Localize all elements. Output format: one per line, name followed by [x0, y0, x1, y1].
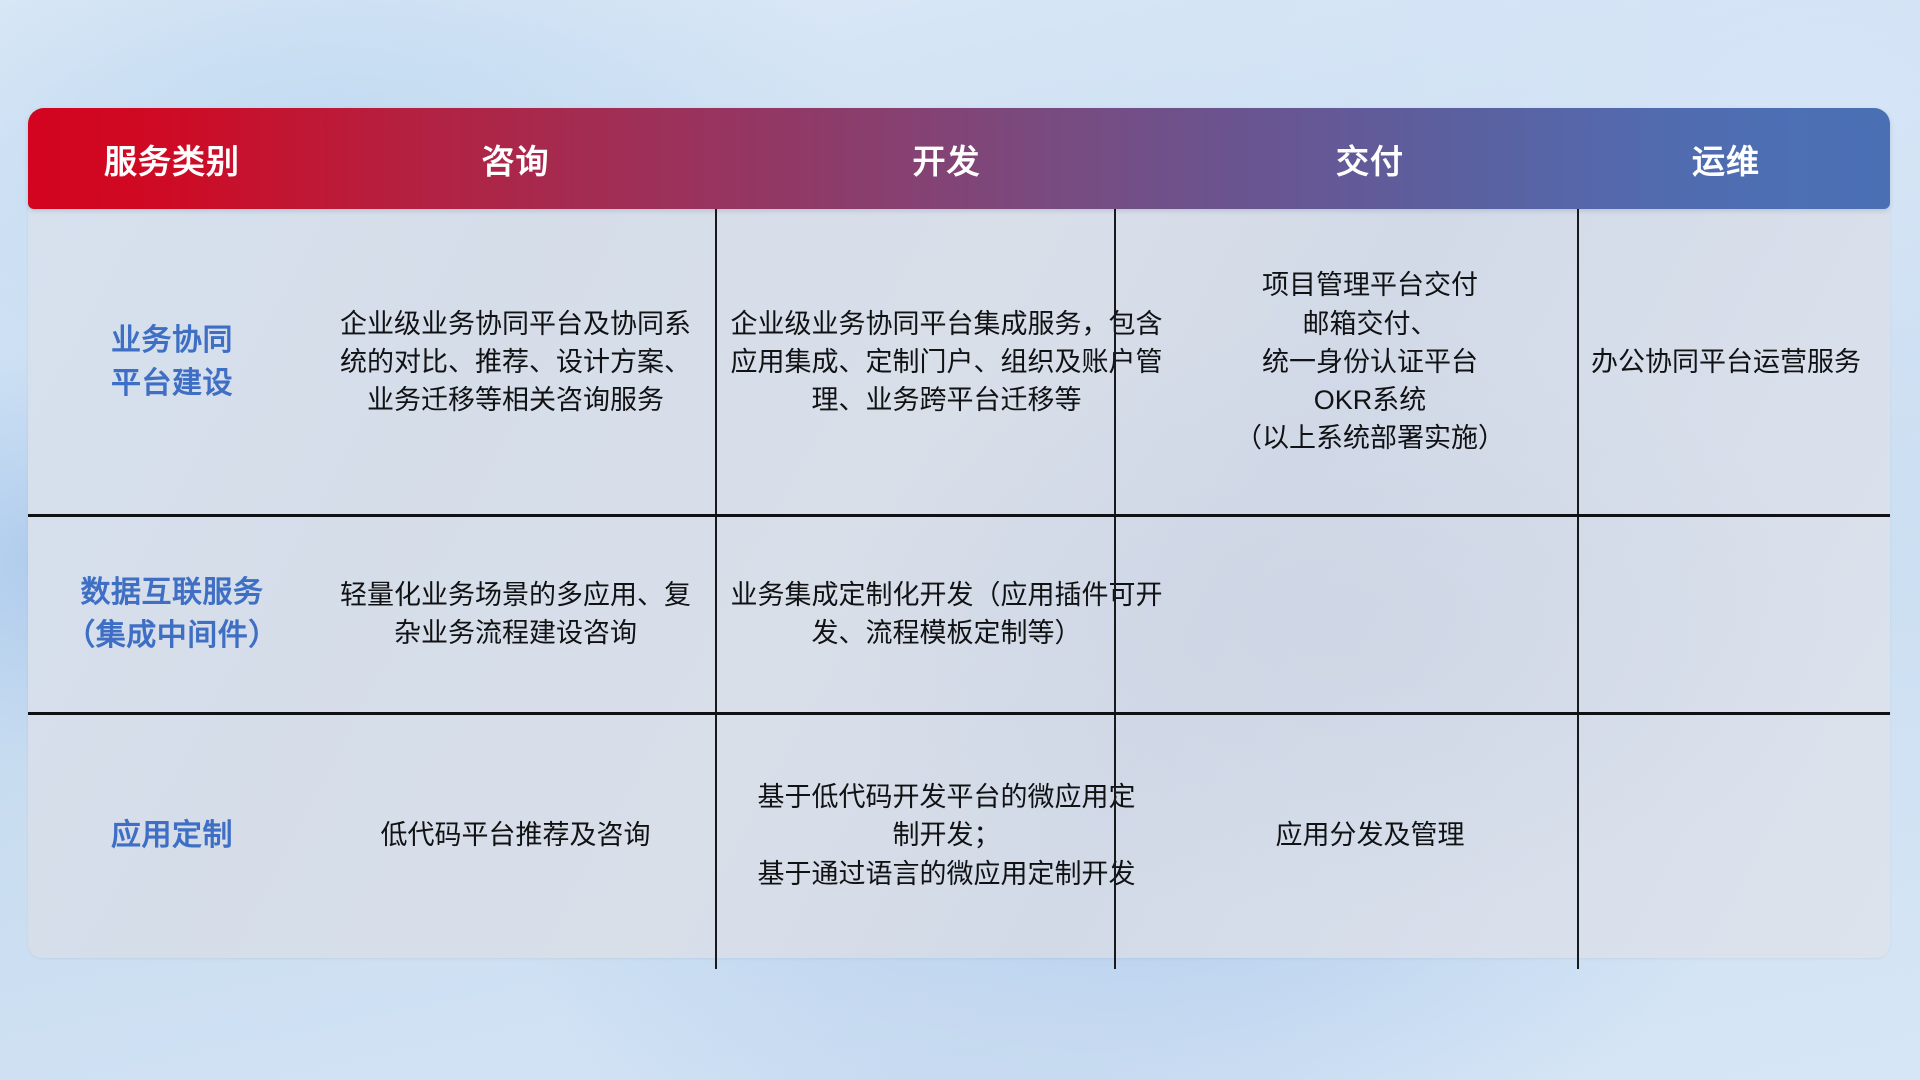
column-divider-1: [715, 209, 717, 969]
header-cell-category: 服务类别: [28, 135, 316, 183]
row-1-consulting: 企业级业务协同平台及协同系统的对比、推荐、设计方案、业务迁移等相关咨询服务: [316, 209, 715, 515]
row-3-development: 基于低代码开发平台的微应用定 制开发； 基于通过语言的微应用定制开发: [715, 713, 1178, 958]
row-2-category-line-2: （集成中间件）: [65, 614, 279, 658]
row-1-delivery: 项目管理平台交付 邮箱交付、 统一身份认证平台 OKR系统 （以上系统部署实施）: [1178, 209, 1562, 515]
column-divider-3: [1577, 209, 1579, 969]
row-2-category-line-1: 数据互联服务: [65, 571, 279, 615]
header-cell-development: 开发: [715, 135, 1178, 183]
row-1-development: 企业级业务协同平台集成服务，包含应用集成、定制门户、组织及账户管理、业务跨平台迁…: [715, 209, 1178, 515]
table-row: 应用定制 低代码平台推荐及咨询 基于低代码开发平台的微应用定 制开发； 基于通过…: [28, 713, 1890, 958]
row-divider-2: [28, 712, 1890, 715]
row-1-delivery-line-5: （以上系统部署实施）: [1235, 419, 1505, 457]
table-row: 数据互联服务 （集成中间件） 轻量化业务场景的多应用、复杂业务流程建设咨询 业务…: [28, 515, 1890, 713]
header-cell-operations: 运维: [1562, 135, 1890, 183]
row-3-delivery: 应用分发及管理: [1178, 713, 1562, 958]
row-1-delivery-line-1: 项目管理平台交付: [1235, 266, 1505, 304]
row-1-delivery-line-4: OKR系统: [1235, 381, 1505, 419]
row-3-operations: [1562, 713, 1890, 958]
row-3-development-line-2: 制开发；: [758, 816, 1136, 854]
service-matrix-table: 服务类别 咨询 开发 交付 运维 业务协同 平台建设 企业级业务协同平台及协同系…: [28, 108, 1890, 958]
row-1-delivery-line-3: 统一身份认证平台: [1235, 343, 1505, 381]
row-2-delivery: [1178, 515, 1562, 713]
header-cell-consulting: 咨询: [316, 135, 715, 183]
row-1-delivery-line-2: 邮箱交付、: [1235, 305, 1505, 343]
row-1-category-line-1: 业务协同: [111, 319, 233, 363]
row-1-operations: 办公协同平台运营服务: [1562, 209, 1890, 515]
row-3-consulting: 低代码平台推荐及咨询: [316, 713, 715, 958]
row-1-category: 业务协同 平台建设: [28, 209, 316, 515]
row-3-development-line-3: 基于通过语言的微应用定制开发: [758, 855, 1136, 893]
row-divider-1: [28, 514, 1890, 517]
row-2-category: 数据互联服务 （集成中间件）: [28, 515, 316, 713]
table-grid: 业务协同 平台建设 企业级业务协同平台及协同系统的对比、推荐、设计方案、业务迁移…: [28, 209, 1890, 958]
row-3-development-line-1: 基于低代码开发平台的微应用定: [758, 778, 1136, 816]
table-row: 业务协同 平台建设 企业级业务协同平台及协同系统的对比、推荐、设计方案、业务迁移…: [28, 209, 1890, 515]
row-3-category: 应用定制: [28, 713, 316, 958]
row-2-development: 业务集成定制化开发（应用插件可开发、流程模板定制等）: [715, 515, 1178, 713]
row-1-category-line-2: 平台建设: [111, 362, 233, 406]
row-3-category-line-1: 应用定制: [111, 814, 233, 858]
column-divider-2: [1114, 209, 1116, 969]
table-header-row: 服务类别 咨询 开发 交付 运维: [28, 108, 1890, 209]
header-cell-delivery: 交付: [1178, 135, 1562, 183]
row-2-consulting: 轻量化业务场景的多应用、复杂业务流程建设咨询: [316, 515, 715, 713]
row-2-operations: [1562, 515, 1890, 713]
